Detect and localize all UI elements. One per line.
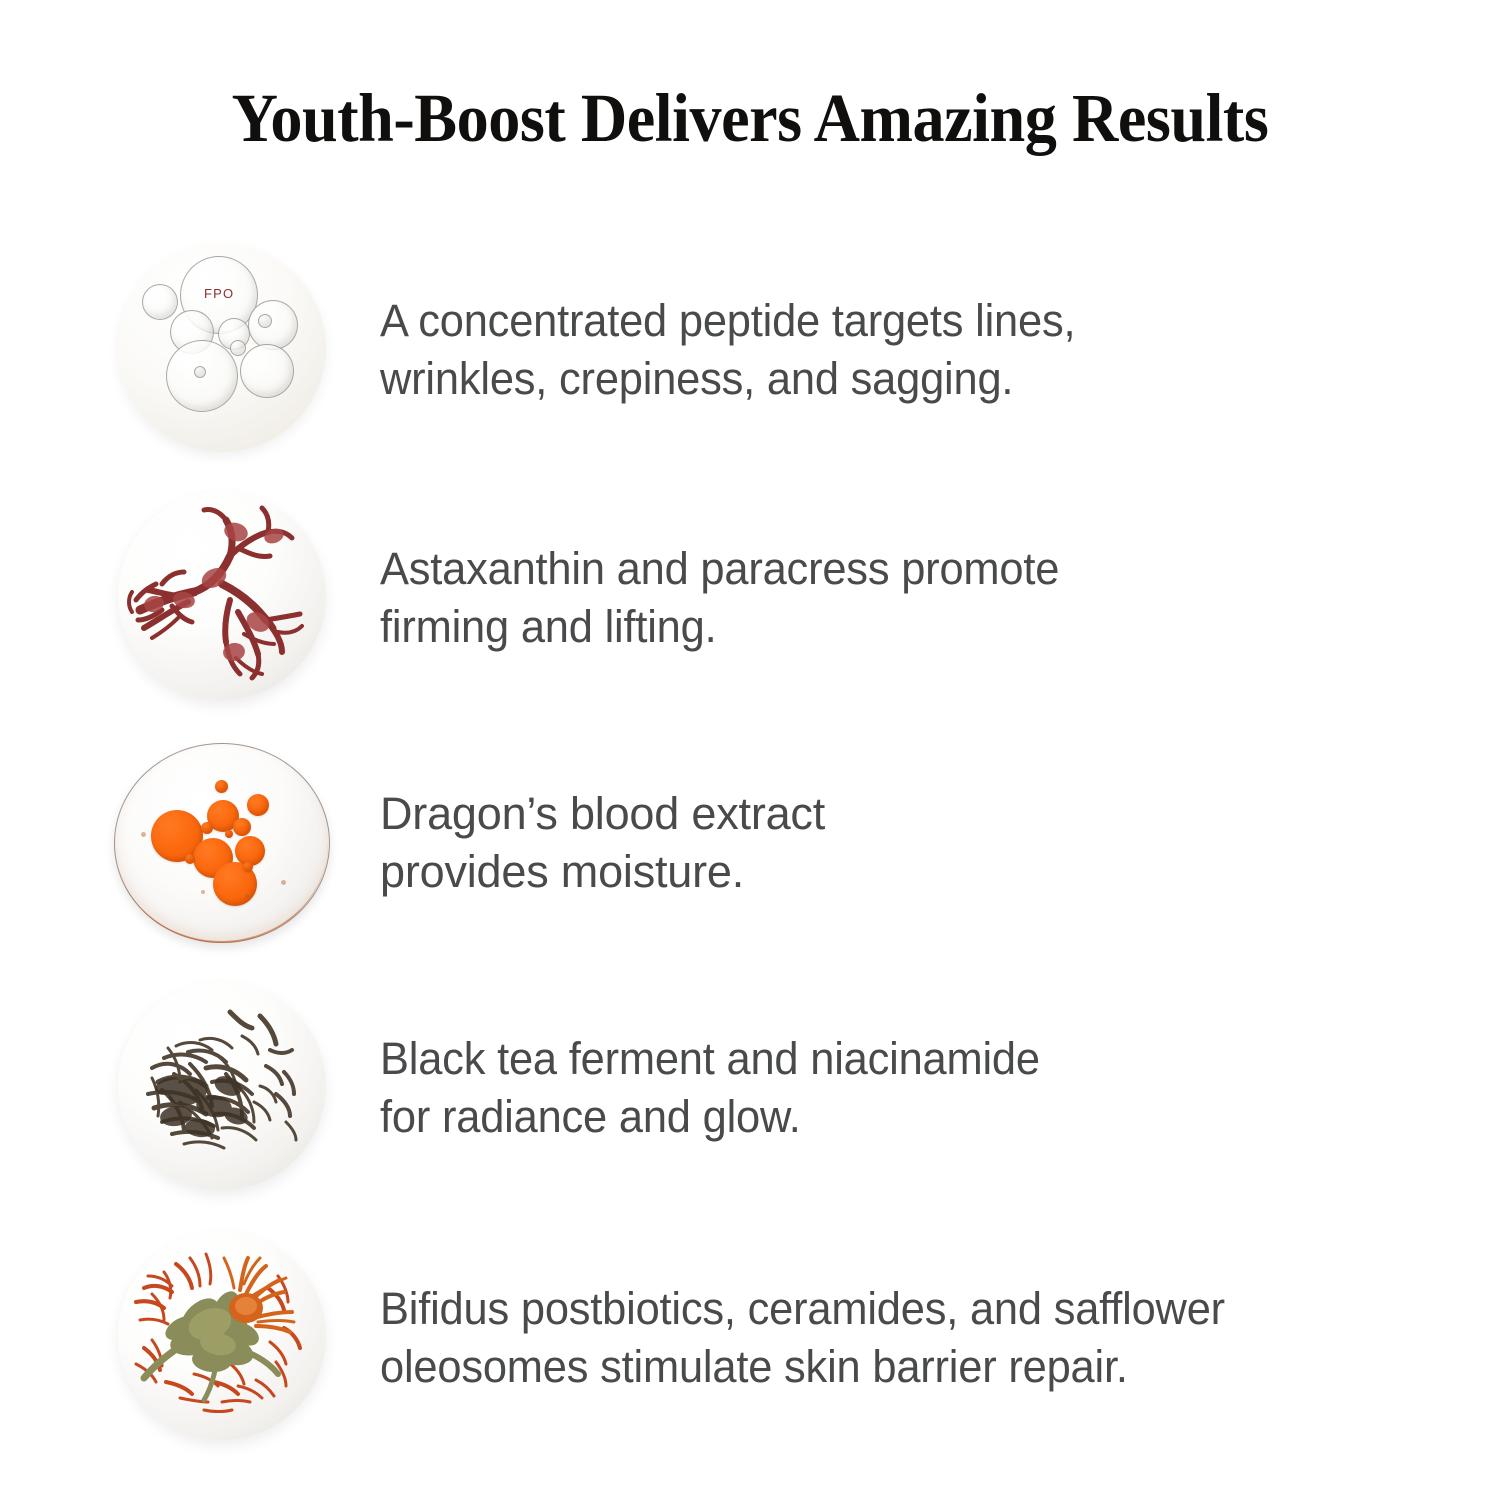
benefit-row-safflower: Bifidus postbiotics, ceramides, and saff… — [0, 1228, 1500, 1448]
oil-droplet — [247, 794, 269, 816]
black-tea-leaves-swatch — [110, 978, 332, 1198]
tea-leaves-illustration — [118, 982, 326, 1190]
swatch-sphere — [118, 492, 326, 700]
oil-droplet-small — [201, 822, 213, 834]
clear-gel-bubbles-swatch: FPO — [110, 240, 332, 460]
swatch-sphere: FPO — [118, 244, 326, 452]
red-algae-illustration — [118, 492, 326, 700]
fpo-placeholder-label: FPO — [204, 286, 234, 301]
gel-bubble-tiny — [258, 314, 272, 328]
benefit-text-astaxanthin: Astaxanthin and paracress promote firmin… — [380, 540, 1059, 657]
red-algae-swatch — [110, 488, 332, 708]
oil-speck — [201, 890, 205, 894]
benefit-row-black-tea: Black tea ferment and niacinamide for ra… — [0, 978, 1500, 1198]
gel-bubble — [240, 344, 294, 398]
oil-speck — [245, 894, 249, 898]
oil-droplet — [215, 780, 228, 793]
benefit-text-black-tea: Black tea ferment and niacinamide for ra… — [380, 1030, 1040, 1147]
safflower-illustration — [118, 1232, 326, 1440]
benefit-row-astaxanthin: Astaxanthin and paracress promote firmin… — [0, 488, 1500, 708]
gel-bubble — [248, 300, 298, 350]
oil-droplet — [233, 818, 251, 836]
oil-speck — [281, 880, 286, 885]
gel-bubble-tiny — [194, 366, 206, 378]
oil-speck — [141, 832, 146, 837]
page-title: Youth-Boost Delivers Amazing Results — [53, 82, 1448, 154]
benefit-text-safflower: Bifidus postbiotics, ceramides, and saff… — [380, 1280, 1225, 1397]
benefit-row-peptide: FPO A concentrated peptide targets lines… — [0, 240, 1500, 460]
swatch-sphere — [118, 1232, 326, 1440]
gel-bubble — [142, 284, 178, 320]
oil-droplet-small — [225, 830, 233, 838]
product-benefits-graphic: Youth-Boost Delivers Amazing Results FPO… — [0, 0, 1500, 1500]
oil-droplet-small — [243, 862, 253, 872]
swatch-sphere — [118, 982, 326, 1190]
gel-bubble-tiny — [230, 340, 246, 356]
orange-oil-droplets-petri-dish-swatch — [110, 733, 332, 953]
oil-droplet-small — [185, 854, 195, 864]
safflower-bloom-swatch — [110, 1228, 332, 1448]
benefit-text-peptide: A concentrated peptide targets lines, wr… — [380, 292, 1075, 409]
petri-dish — [114, 743, 330, 943]
benefit-text-dragons-blood: Dragon’s blood extract provides moisture… — [380, 785, 825, 902]
benefit-row-dragons-blood: Dragon’s blood extract provides moisture… — [0, 733, 1500, 953]
